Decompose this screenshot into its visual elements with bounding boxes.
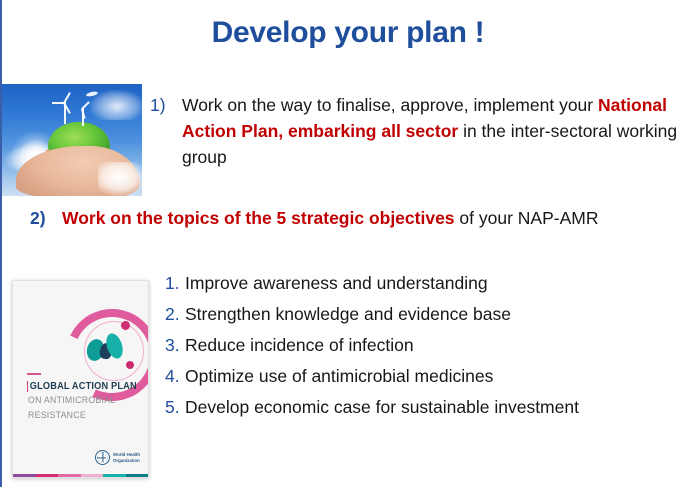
- hand-holding-green-earth-photo: [2, 84, 142, 196]
- list-item: 4.Optimize use of antimicrobial medicine…: [165, 361, 685, 392]
- cover-color-strip: [13, 474, 148, 477]
- color-strip-segment: [103, 474, 126, 477]
- wind-turbine-blade: [52, 102, 64, 104]
- strategic-objectives-list: 1.Improve awareness and understanding2.S…: [165, 268, 685, 423]
- list-item-number: 4.: [165, 361, 185, 392]
- page-title: Develop your plan !: [2, 16, 692, 50]
- item2-segment-highlight: Work on the topics of the 5 strategic ob…: [62, 208, 455, 228]
- list-item-label: Reduce incidence of infection: [185, 330, 414, 361]
- cloud-icon: [90, 90, 142, 120]
- cover-subtitle-line2: RESISTANCE: [28, 410, 86, 421]
- decorative-dot: [126, 361, 134, 369]
- color-strip-segment: [58, 474, 81, 477]
- list-item: 1.Improve awareness and understanding: [165, 268, 685, 299]
- cover-rule: [27, 373, 41, 375]
- color-strip-segment: [126, 474, 149, 477]
- list-item-2-text: Work on the topics of the 5 strategic ob…: [62, 205, 598, 231]
- list-item-1-text: Work on the way to finalise, approve, im…: [182, 92, 690, 170]
- list-item-number: 1.: [165, 268, 185, 299]
- who-logo: World Health Organization: [95, 450, 140, 465]
- list-item: 3.Reduce incidence of infection: [165, 330, 685, 361]
- list-marker-1: 1): [150, 92, 182, 118]
- decorative-dot: [121, 321, 130, 330]
- list-item-number: 3.: [165, 330, 185, 361]
- cover-title: GLOBAL ACTION PLAN: [27, 381, 137, 392]
- who-global-action-plan-cover: GLOBAL ACTION PLAN ON ANTIMICROBIAL RESI…: [12, 280, 149, 478]
- list-marker-2: 2): [30, 205, 62, 231]
- color-strip-segment: [81, 474, 104, 477]
- color-strip-segment: [36, 474, 59, 477]
- list-item-label: Strengthen knowledge and evidence base: [185, 299, 511, 330]
- list-item-label: Improve awareness and understanding: [185, 268, 488, 299]
- who-emblem-icon: [95, 450, 110, 465]
- item2-segment-b: of your NAP-AMR: [455, 208, 599, 228]
- list-item-label: Develop economic case for sustainable in…: [185, 392, 579, 423]
- cloud-icon: [98, 162, 142, 196]
- who-logo-line1: World Health: [113, 452, 140, 457]
- list-item-1: 1) Work on the way to finalise, approve,…: [150, 92, 690, 170]
- list-item-2: 2) Work on the topics of the 5 strategic…: [30, 205, 690, 231]
- item1-segment-a: Work on the way to finalise, approve, im…: [182, 95, 598, 115]
- list-item-number: 5.: [165, 392, 185, 423]
- cover-subtitle-line1: ON ANTIMICROBIAL: [28, 395, 115, 406]
- list-item: 2.Strengthen knowledge and evidence base: [165, 299, 685, 330]
- list-item-number: 2.: [165, 299, 185, 330]
- list-item-label: Optimize use of antimicrobial medicines: [185, 361, 493, 392]
- list-item: 5.Develop economic case for sustainable …: [165, 392, 685, 423]
- color-strip-segment: [13, 474, 36, 477]
- slide-canvas: Develop your plan ! 1) Work on the way t…: [0, 0, 692, 487]
- who-logo-line2: Organization: [113, 458, 140, 463]
- who-logo-text: World Health Organization: [113, 452, 140, 463]
